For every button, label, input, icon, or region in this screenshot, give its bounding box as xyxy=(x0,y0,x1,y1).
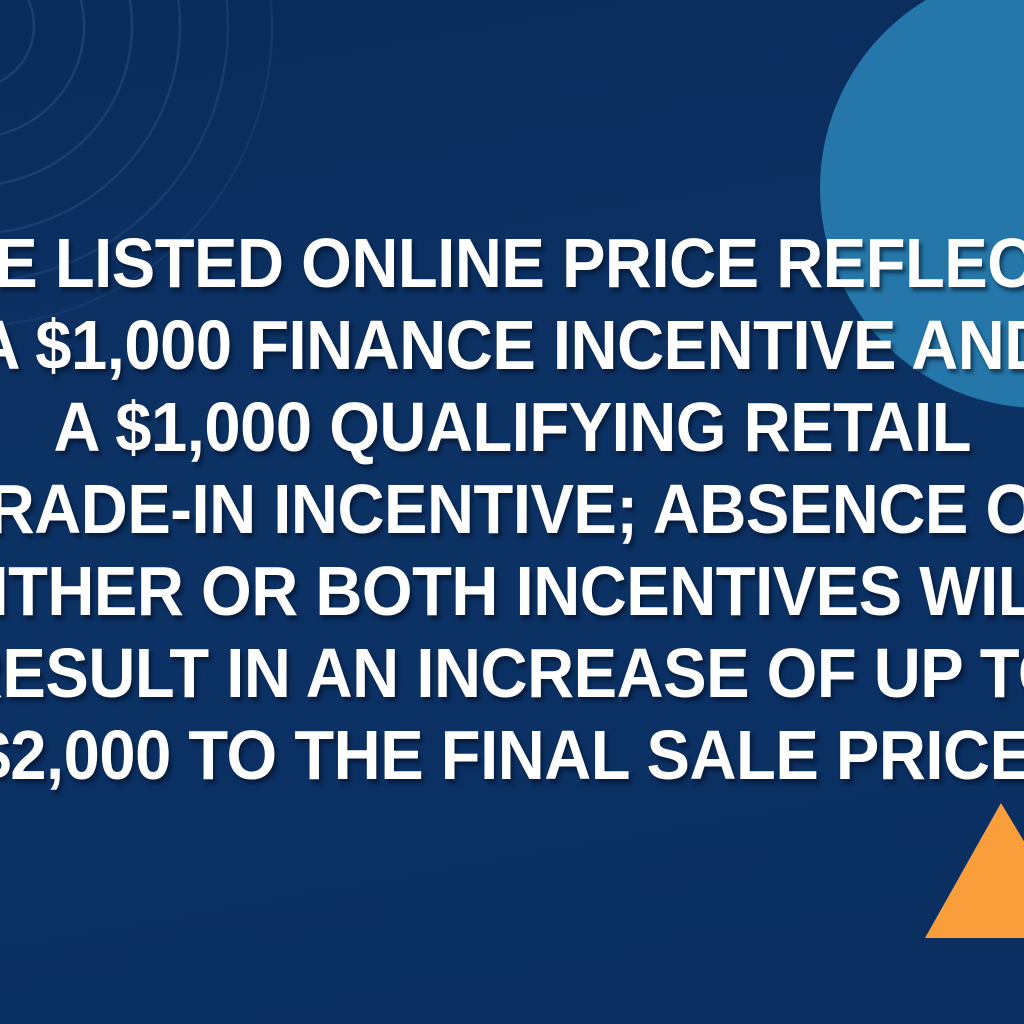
headline-line-6: RESULT IN AN INCREASE OF UP TO xyxy=(0,632,1024,714)
headline-line-3: A $1,000 QUALIFYING RETAIL xyxy=(53,386,971,468)
disclaimer-graphic: THE LISTED ONLINE PRICE REFLECTS A $1,00… xyxy=(0,0,1024,1024)
headline-line-4: TRADE-IN INCENTIVE; ABSENCE OF xyxy=(0,468,1024,550)
headline-block: THE LISTED ONLINE PRICE REFLECTS A $1,00… xyxy=(0,0,1024,1024)
headline-line-7: $2,000 TO THE FINAL SALE PRICE. xyxy=(0,714,1024,796)
headline-line-5: EITHER OR BOTH INCENTIVES WILL xyxy=(0,550,1024,632)
headline-line-2: A $1,000 FINANCE INCENTIVE AND xyxy=(0,304,1024,386)
headline-line-1: THE LISTED ONLINE PRICE REFLECTS xyxy=(0,222,1024,304)
